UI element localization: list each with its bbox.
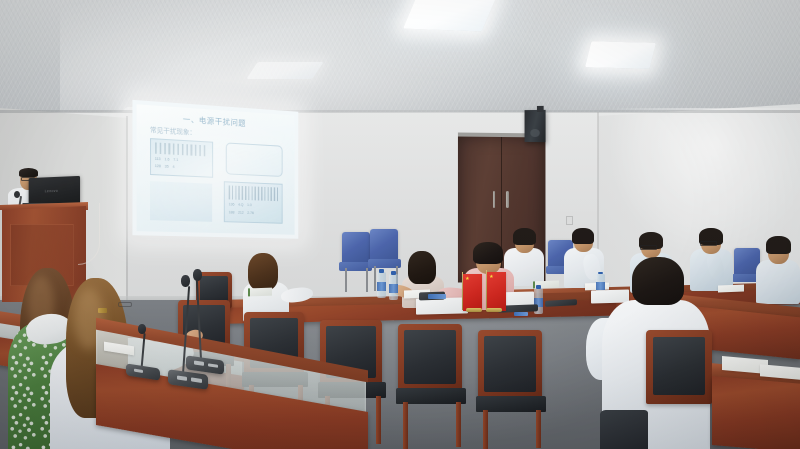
bottle-cap [391, 271, 397, 274]
chair-leg [536, 410, 541, 448]
waveform-row-1: 113 1.6 7.1 [155, 156, 209, 164]
blue-folding-chair [342, 232, 370, 266]
water-bottle [377, 272, 386, 298]
bottle-label [389, 284, 398, 293]
conference-room-photo: 一、电源干扰问题 常见干扰现象： 113 1.6 7.1 128 35 4 [0, 0, 800, 449]
waveform-row-2: 128 35 4 [155, 163, 209, 171]
waveform-bars [155, 142, 209, 157]
microphone-head [193, 269, 202, 281]
woman-patterned-top-hair [408, 251, 436, 284]
mic-indicator [208, 363, 218, 367]
value: 2.76 [247, 211, 254, 215]
value: 1.0 [247, 203, 252, 207]
value: 1.6 [164, 157, 169, 161]
wooden-conference-chair [478, 330, 542, 400]
wooden-conference-chair [398, 324, 462, 392]
bottle-cap [379, 269, 385, 272]
value: 212 [238, 211, 244, 215]
suspended-ceiling [0, 0, 800, 118]
woman-white-top-hair [248, 253, 278, 290]
door-handle-right-icon[interactable] [506, 191, 508, 208]
value: 4 [173, 165, 175, 169]
projected-slide: 一、电源干扰问题 常见干扰现象： 113 1.6 7.1 128 35 4 [137, 104, 295, 234]
hair-clip [98, 308, 107, 313]
wall-outlet-plate [566, 216, 573, 225]
door-handle-left-icon[interactable] [493, 191, 495, 208]
man-foreground-right-hair [632, 257, 684, 305]
wall-mounted-speaker [525, 110, 546, 142]
chair-leg [345, 268, 347, 292]
value: 188 [229, 211, 235, 215]
chair-backrest-pad [484, 336, 536, 392]
value: 113 [155, 157, 161, 161]
mic-button[interactable] [134, 368, 143, 373]
flag-stand-base [486, 308, 502, 312]
conference-table-apron [712, 376, 800, 449]
flag-star-icon: ★ [489, 275, 493, 280]
laptop-brand-label: Lenovo [45, 188, 58, 192]
chair-backrest-pad [404, 330, 456, 384]
man-far-right-torso [756, 260, 800, 304]
man-glasses-right-3-glasses-icon [700, 241, 717, 246]
notebook [248, 288, 272, 297]
bottle-label [377, 282, 386, 291]
wooden-conference-chair [646, 330, 712, 404]
flag-stand-base [466, 308, 482, 312]
man-far-right-hair [766, 236, 791, 254]
chinese-desk-flag: ★ [487, 272, 506, 311]
value: 7.1 [173, 158, 178, 162]
bottle-label [596, 282, 605, 289]
man-pink-polo-hair [473, 242, 503, 264]
value: 136 [229, 202, 235, 206]
chair-leg [374, 266, 376, 291]
flag-star-icon: ★ [465, 277, 469, 282]
slide-spectrum-panel: 136 4.Q 1.0 188 212 2.76 [224, 182, 282, 224]
ceiling-light-panel-3 [246, 62, 323, 79]
chair-leg [483, 410, 488, 449]
water-bottle [389, 274, 398, 300]
mic-indicator [191, 378, 201, 383]
chair-backrest-pad [200, 276, 228, 303]
value: 35 [165, 165, 169, 169]
speaker-bracket [537, 106, 544, 112]
slide-waveform-panel: 113 1.6 7.1 128 35 4 [150, 138, 213, 177]
ceiling-light-panel-1 [403, 0, 497, 31]
man-light-shirt-right-1-hair [572, 228, 594, 244]
spectrum-bars [229, 186, 279, 201]
man-glasses-right-2-glasses-icon [640, 245, 657, 250]
bottle-cap [598, 272, 604, 275]
chair-leg [456, 402, 461, 447]
woman-white-shirt-glasses-icon [118, 302, 132, 307]
projection-screen: 一、电源干扰问题 常见干扰现象： 113 1.6 7.1 128 35 4 [132, 100, 298, 239]
chair-backrest-pad [653, 337, 705, 395]
bottle-cap [536, 285, 542, 288]
chair-leg [376, 396, 381, 444]
value: 4.Q [238, 203, 244, 207]
paper-sheet [718, 285, 744, 293]
speaker-cone-icon [530, 129, 540, 137]
value: 128 [155, 164, 161, 168]
chair-leg [366, 268, 368, 292]
spectrum-row-1: 136 4.Q 1.0 [229, 201, 279, 209]
man-foreground-right-trousers [600, 410, 648, 449]
wall-corner-seam-left [126, 116, 128, 311]
mic-button[interactable] [194, 361, 204, 366]
man-white-shirt-back-row-hair [513, 228, 536, 245]
blue-label [428, 294, 446, 299]
slide-device-photo-panel [226, 142, 283, 176]
presenter-hair [19, 168, 38, 177]
ceiling-light-panel-2 [585, 41, 656, 69]
chinese-desk-flag: ★ [463, 274, 482, 311]
wall-ceiling-edge [0, 110, 800, 113]
mic-button[interactable] [177, 375, 187, 380]
blue-label [514, 312, 528, 316]
spectrum-row-2: 188 212 2.76 [229, 210, 279, 218]
slide-subtitle: 常见干扰现象： [150, 124, 196, 137]
slide-instrument-photo-panel [150, 181, 212, 222]
chair-leg [403, 402, 408, 449]
